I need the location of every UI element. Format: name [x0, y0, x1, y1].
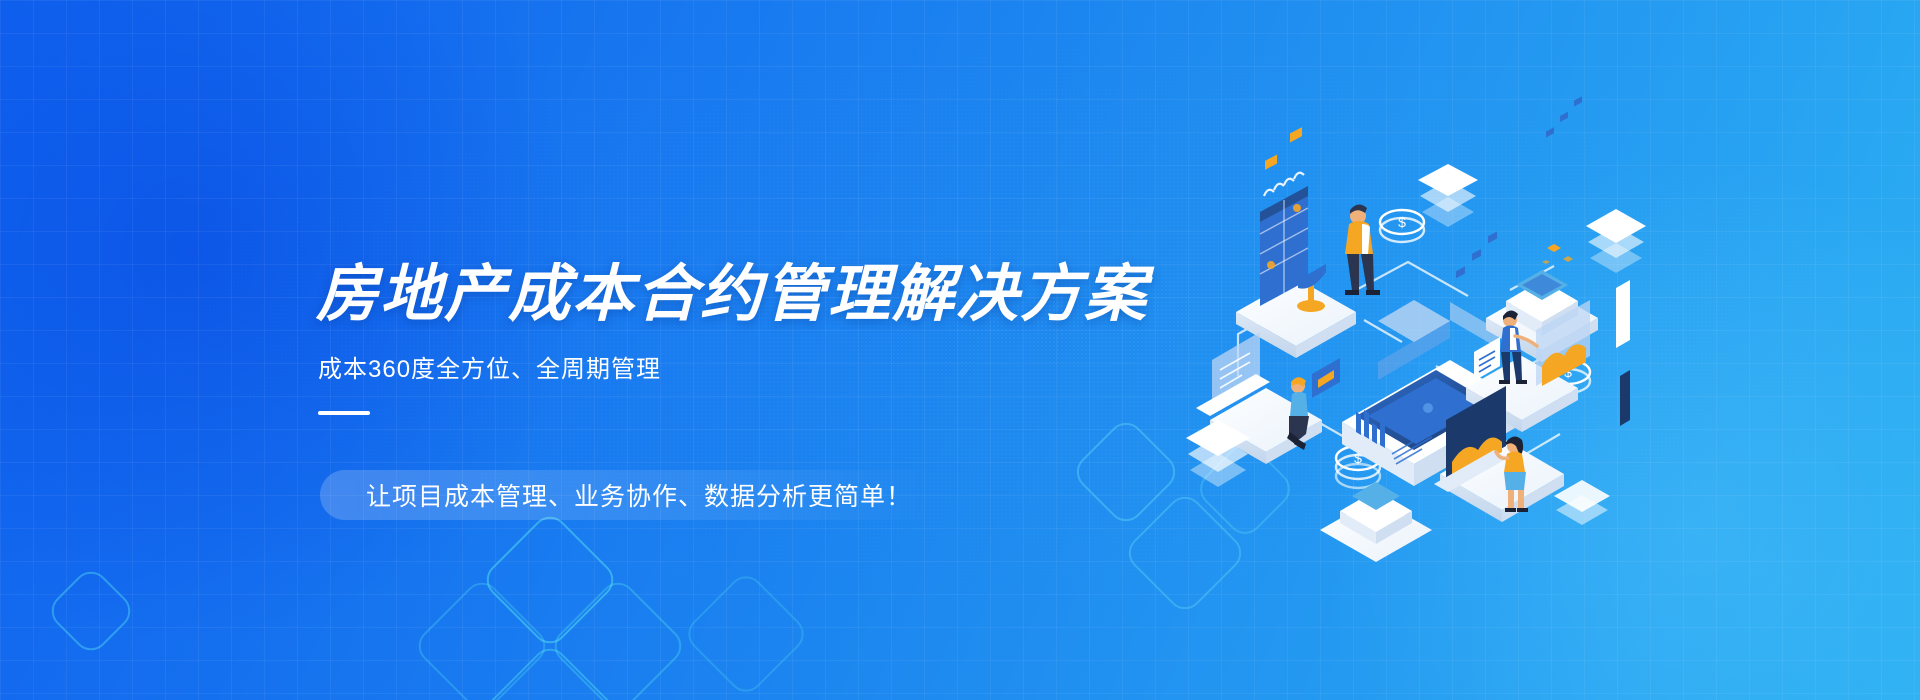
decorative-diamond: [681, 569, 811, 699]
decorative-diamond: [479, 641, 620, 700]
decorative-diamond: [479, 509, 620, 650]
floating-card-stack: [1586, 209, 1646, 273]
decorative-diamond: [44, 564, 137, 657]
small-card: [1312, 358, 1340, 398]
decorative-diamond: [547, 575, 688, 700]
title-divider: [318, 411, 370, 415]
svg-text:$: $: [1398, 214, 1406, 230]
standing-man-orange-jacket: [1345, 204, 1380, 295]
cta-tagline-pill: 让项目成本管理、业务协作、数据分析更简单！: [320, 470, 946, 520]
tablet-screen: [1616, 280, 1630, 426]
floating-card-stack: [1418, 164, 1478, 227]
page-subtitle: 成本360度全方位、全周期管理: [318, 354, 1076, 385]
decorative-diamond: [411, 575, 552, 700]
coin-stack: $: [1380, 210, 1424, 242]
isometric-cost-management-illustration: $ $ $: [1150, 170, 1630, 530]
sparkle-particles: [1542, 244, 1573, 264]
hero-banner: 房地产成本合约管理解决方案 成本360度全方位、全周期管理 让项目成本管理、业务…: [0, 0, 1920, 700]
chart-screen: [1536, 96, 1590, 386]
hero-copy-block: 房地产成本合约管理解决方案 成本360度全方位、全周期管理: [316, 262, 1076, 415]
page-title: 房地产成本合约管理解决方案: [316, 262, 1076, 328]
